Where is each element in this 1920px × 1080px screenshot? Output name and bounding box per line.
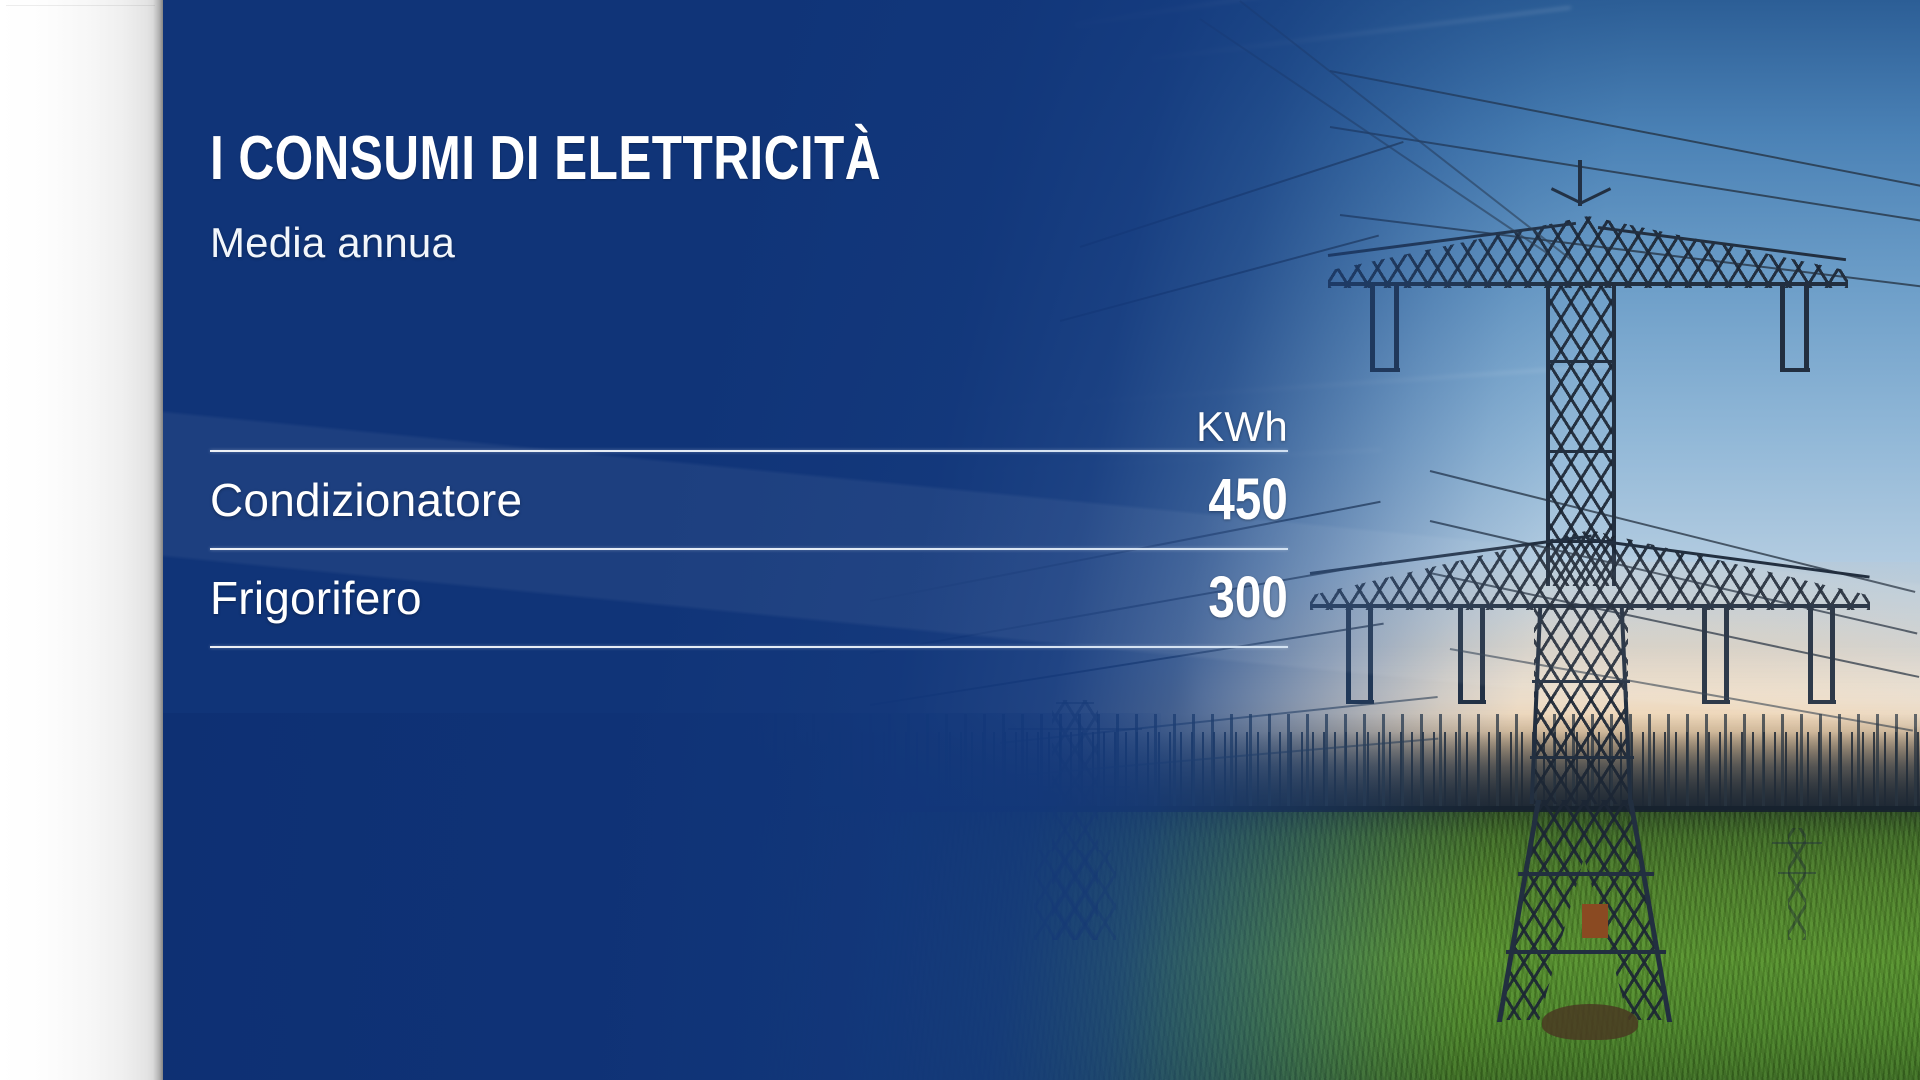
table-row: Frigorifero 300 xyxy=(210,550,1288,646)
table-row: Condizionatore 450 xyxy=(210,452,1288,548)
left-white-panel xyxy=(0,0,163,1080)
slide-canvas: I CONSUMI DI ELETTRICITÀ Media annua KWh… xyxy=(0,0,1920,1080)
row-value: 450 xyxy=(1209,471,1288,529)
page-title: I CONSUMI DI ELETTRICITÀ xyxy=(210,128,881,190)
table-divider-bottom xyxy=(210,646,1288,648)
panel-top-hairline xyxy=(6,5,155,6)
row-label: Condizionatore xyxy=(210,477,522,523)
slide-content: I CONSUMI DI ELETTRICITÀ Media annua KWh… xyxy=(210,0,1290,1080)
table-header-row: KWh xyxy=(210,388,1288,450)
page-subtitle: Media annua xyxy=(210,222,455,264)
consumption-table: KWh Condizionatore 450 Frigorifero 300 xyxy=(210,388,1288,648)
row-value: 300 xyxy=(1209,569,1288,627)
column-header-unit: KWh xyxy=(1196,406,1288,448)
row-label: Frigorifero xyxy=(210,575,422,621)
